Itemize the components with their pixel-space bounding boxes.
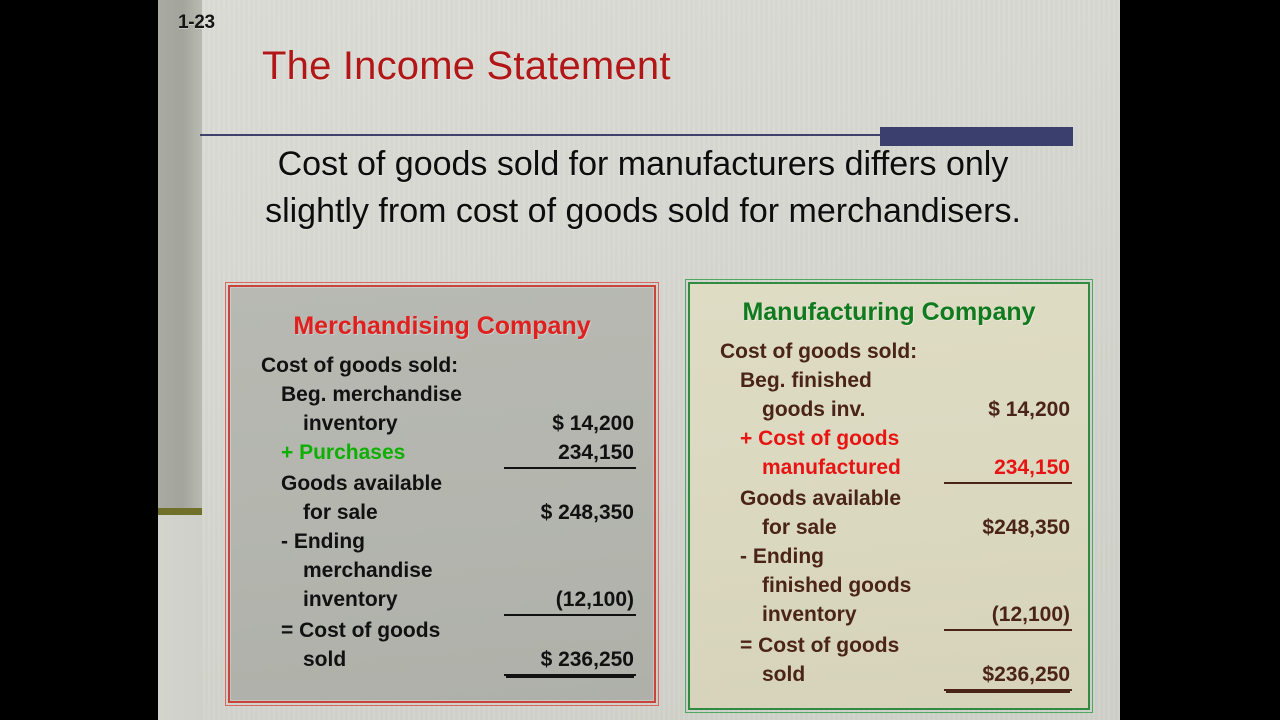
statement-row: = Cost of goods — [261, 616, 636, 645]
statement-row: inventory(12,100) — [261, 585, 636, 616]
slide-left-lower-strip — [158, 515, 202, 720]
statement-row-label: merchandise — [261, 556, 433, 585]
slide-number: 1-23 — [178, 12, 215, 34]
statement-row: + Purchases234,150 — [261, 438, 636, 469]
statement-row-value: (12,100) — [504, 585, 636, 616]
statement-row-label: finished goods — [720, 571, 911, 600]
statement-row-label: goods inv. — [720, 395, 865, 424]
statement-row: Goods available — [261, 469, 636, 498]
statement-row: = Cost of goods — [720, 631, 1072, 660]
statement-row: for sale$ 248,350 — [261, 498, 636, 527]
statement-row-label: for sale — [720, 513, 837, 542]
statement-row: merchandise — [261, 556, 636, 585]
statement-row-label: + Purchases — [261, 438, 405, 467]
statement-row-value: $ 14,200 — [504, 409, 636, 438]
merchandising-cogs-statement: Cost of goods sold:Beg. merchandiseinven… — [230, 351, 654, 676]
statement-row: Cost of goods sold: — [720, 337, 1072, 366]
statement-row: finished goods — [720, 571, 1072, 600]
statement-row-label: Goods available — [720, 484, 901, 513]
statement-row: Cost of goods sold: — [261, 351, 636, 380]
statement-row-value: $ 14,200 — [944, 395, 1072, 424]
statement-row-label: = Cost of goods — [261, 616, 440, 645]
statement-row: manufactured234,150 — [720, 453, 1072, 484]
statement-row: Goods available — [720, 484, 1072, 513]
statement-row: Beg. merchandise — [261, 380, 636, 409]
slide-left-olive-accent — [158, 508, 202, 515]
statement-row-label: Goods available — [261, 469, 442, 498]
statement-row-value: $ 236,250 — [504, 645, 636, 676]
statement-row: Beg. finished — [720, 366, 1072, 395]
statement-row-value: $236,250 — [944, 660, 1072, 691]
statement-row-label: + Cost of goods — [720, 424, 899, 453]
statement-row: sold$236,250 — [720, 660, 1072, 691]
statement-row-label: inventory — [261, 585, 398, 614]
statement-row-label: sold — [720, 660, 805, 689]
manufacturing-panel-heading: Manufacturing Company — [690, 298, 1088, 327]
statement-row-label: inventory — [261, 409, 398, 438]
merchandising-company-panel: Merchandising Company Cost of goods sold… — [228, 285, 656, 703]
title-divider-rule — [200, 134, 880, 136]
statement-row: - Ending — [720, 542, 1072, 571]
statement-row-label: Cost of goods sold: — [720, 337, 917, 366]
slide-left-decorative-strip — [158, 0, 202, 508]
manufacturing-company-panel: Manufacturing Company Cost of goods sold… — [688, 282, 1090, 710]
statement-row-label: manufactured — [720, 453, 901, 482]
merchandising-panel-heading: Merchandising Company — [230, 312, 654, 341]
statement-row: - Ending — [261, 527, 636, 556]
statement-row-label: inventory — [720, 600, 857, 629]
statement-row-value: (12,100) — [944, 600, 1072, 631]
statement-row-label: Beg. merchandise — [261, 380, 462, 409]
statement-row-label: Cost of goods sold: — [261, 351, 458, 380]
statement-row-value: 234,150 — [944, 453, 1072, 484]
presentation-slide: 1-23 The Income Statement Cost of goods … — [158, 0, 1120, 720]
statement-row-label: sold — [261, 645, 346, 674]
statement-row-label: for sale — [261, 498, 378, 527]
statement-row-value: 234,150 — [504, 438, 636, 469]
statement-row-label: = Cost of goods — [720, 631, 899, 660]
statement-row: sold$ 236,250 — [261, 645, 636, 676]
statement-row-label: Beg. finished — [720, 366, 872, 395]
statement-row-value: $248,350 — [944, 513, 1072, 542]
slide-body-statement: Cost of goods sold for manufacturers dif… — [238, 141, 1048, 235]
statement-row-label: - Ending — [720, 542, 824, 571]
statement-row: inventory(12,100) — [720, 600, 1072, 631]
page-title: The Income Statement — [262, 44, 671, 89]
statement-row: for sale$248,350 — [720, 513, 1072, 542]
manufacturing-cogs-statement: Cost of goods sold:Beg. finishedgoods in… — [690, 337, 1088, 691]
statement-row: goods inv.$ 14,200 — [720, 395, 1072, 424]
screen-root: 1-23 The Income Statement Cost of goods … — [0, 0, 1280, 720]
statement-row-value: $ 248,350 — [504, 498, 636, 527]
statement-row: + Cost of goods — [720, 424, 1072, 453]
statement-row: inventory$ 14,200 — [261, 409, 636, 438]
statement-row-label: - Ending — [261, 527, 365, 556]
